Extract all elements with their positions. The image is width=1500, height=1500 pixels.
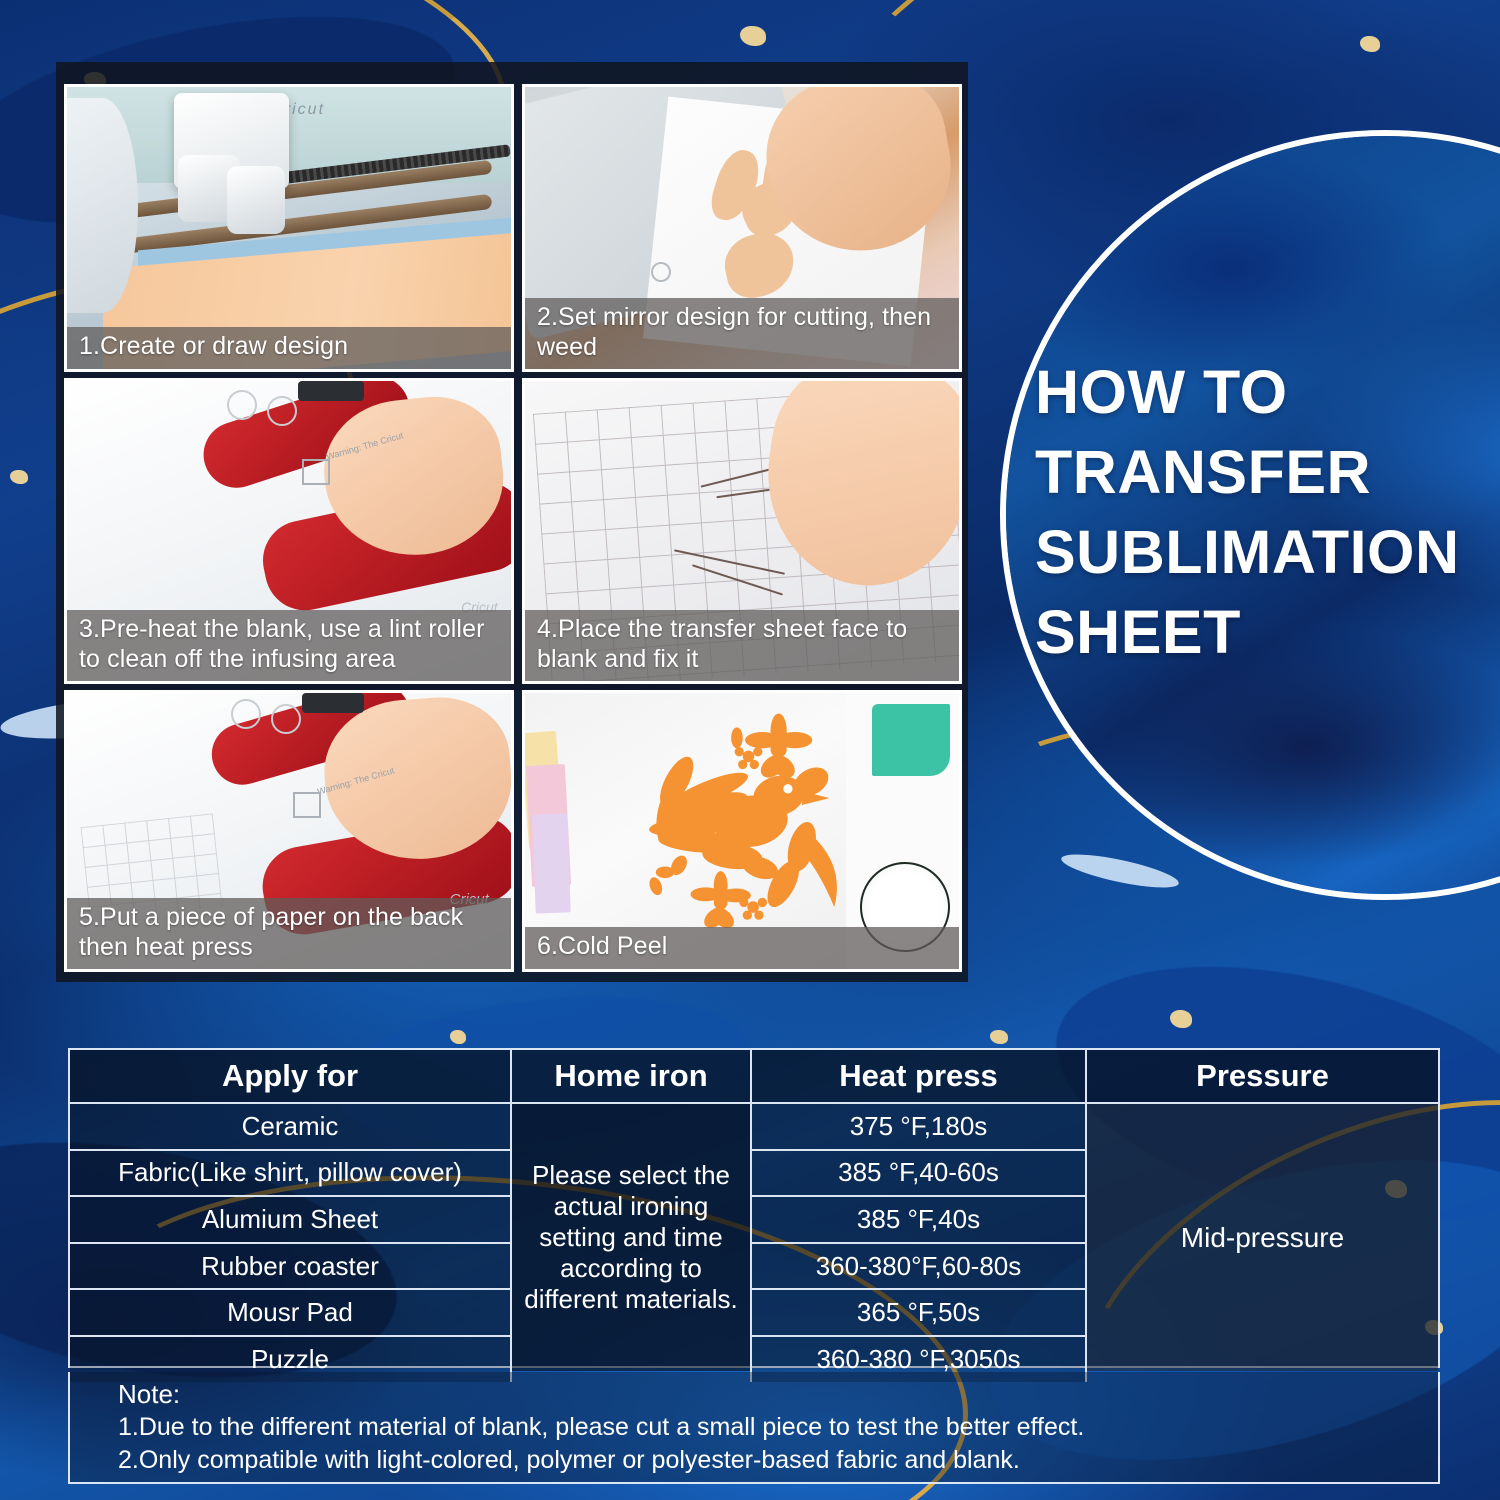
gold-fleck xyxy=(450,1030,466,1044)
step-card-6[interactable]: 6.Cold Peel xyxy=(522,690,962,972)
gold-fleck xyxy=(1170,1010,1192,1028)
title-line-3: SUBLIMATION xyxy=(1035,512,1500,592)
table-header-apply-for: Apply for xyxy=(70,1050,510,1104)
table-header-pressure: Pressure xyxy=(1087,1050,1438,1104)
table-column-heat-press: Heat press 375 °F,180s 385 °F,40-60s 385… xyxy=(752,1050,1087,1382)
step-card-1[interactable]: Cricut 1.Create or draw design xyxy=(64,84,514,372)
title-line-4: SHEET xyxy=(1035,592,1500,672)
table-row: Mousr Pad xyxy=(70,1290,510,1337)
table-header-heat-press: Heat press xyxy=(752,1050,1085,1104)
step-caption: 5.Put a piece of paper on the back then … xyxy=(67,898,511,969)
title-line-1: HOW TO xyxy=(1035,352,1500,432)
note-line-1: 1.Due to the different material of blank… xyxy=(118,1411,1438,1444)
gold-fleck xyxy=(740,26,766,46)
table-row: Alumium Sheet xyxy=(70,1197,510,1244)
step-card-4[interactable]: 4.Place the transfer sheet face to blank… xyxy=(522,378,962,684)
table-row: Rubber coaster xyxy=(70,1244,510,1291)
step-card-5[interactable]: Warning: The Cricut Cricut 5.Put a piece… xyxy=(64,690,514,972)
steps-photo-grid: Cricut 1.Create or draw design xyxy=(64,84,960,974)
home-iron-note: Please select the actual ironing setting… xyxy=(512,1104,750,1371)
table-row: 360-380°F,60-80s xyxy=(752,1244,1085,1291)
table-column-pressure: Pressure Mid-pressure xyxy=(1087,1050,1438,1382)
table-row: 375 °F,180s xyxy=(752,1104,1085,1151)
gold-fleck xyxy=(1360,36,1380,52)
settings-table: Apply for Ceramic Fabric(Like shirt, pil… xyxy=(68,1048,1440,1368)
table-header-home-iron: Home iron xyxy=(512,1050,750,1104)
step-caption: 1.Create or draw design xyxy=(67,327,511,369)
pressure-value: Mid-pressure xyxy=(1087,1104,1438,1371)
table-row: Ceramic xyxy=(70,1104,510,1151)
table-column-home-iron: Home iron Please select the actual ironi… xyxy=(512,1050,752,1382)
page-title: HOW TO TRANSFER SUBLIMATION SHEET xyxy=(1035,352,1500,672)
step-card-2[interactable]: 2.Set mirror design for cutting, then we… xyxy=(522,84,962,372)
gold-fleck xyxy=(10,470,28,484)
step-caption: 4.Place the transfer sheet face to blank… xyxy=(525,610,959,681)
bird-design-icon xyxy=(594,710,889,942)
note-line-2: 2.Only compatible with light-colored, po… xyxy=(118,1444,1438,1477)
table-row: Fabric(Like shirt, pillow cover) xyxy=(70,1151,510,1198)
table-row: 385 °F,40-60s xyxy=(752,1151,1085,1198)
step-caption: 2.Set mirror design for cutting, then we… xyxy=(525,298,959,369)
note-section: Note: 1.Due to the different material of… xyxy=(68,1372,1440,1484)
table-row: 385 °F,40s xyxy=(752,1197,1085,1244)
table-column-apply-for: Apply for Ceramic Fabric(Like shirt, pil… xyxy=(70,1050,512,1382)
table-row: 365 °F,50s xyxy=(752,1290,1085,1337)
infographic-canvas: Cricut 1.Create or draw design xyxy=(0,0,1500,1500)
gold-fleck xyxy=(990,1030,1008,1044)
step-card-3[interactable]: Warning: The Cricut Cricut 3.Pre-heat th… xyxy=(64,378,514,684)
step-caption: 6.Cold Peel xyxy=(525,927,959,969)
note-heading: Note: xyxy=(118,1378,1438,1411)
step-caption: 3.Pre-heat the blank, use a lint roller … xyxy=(67,610,511,681)
title-line-2: TRANSFER xyxy=(1035,432,1500,512)
